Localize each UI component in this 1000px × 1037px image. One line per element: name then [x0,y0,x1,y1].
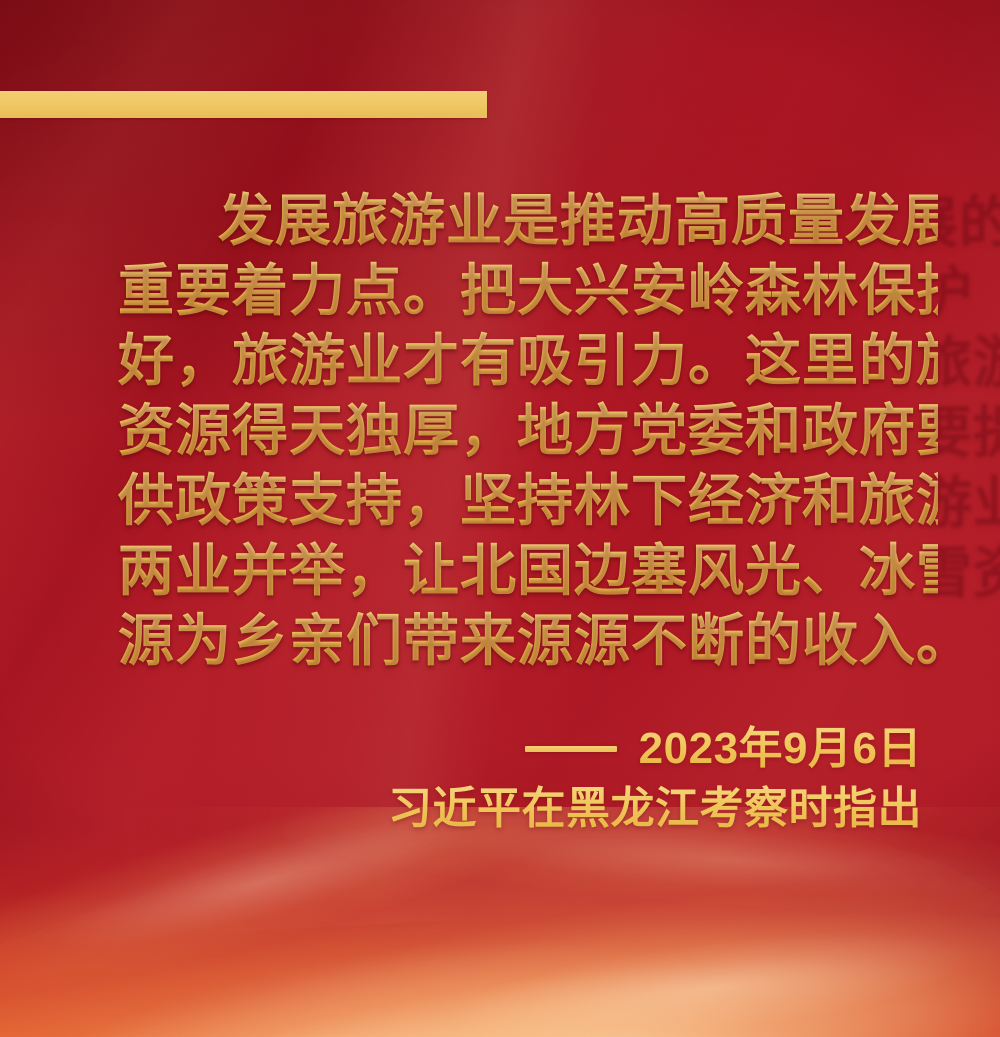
quote-poster: 发展旅游业是推动高质量发展的 重要着力点。把大兴安岭森林保护 好，旅游业才有吸引… [0,0,1000,1037]
quote-line: 资源得天独厚，地方党委和政府要提 [118,396,938,466]
quote-line: 好，旅游业才有吸引力。这里的旅游 [118,326,938,396]
attribution-date-row: 2023年9月6日 [388,722,922,776]
attribution-date: 2023年9月6日 [639,722,922,776]
quote-line: 供政策支持，坚持林下经济和旅游业 [118,466,938,536]
gold-rule [0,91,487,118]
quote-text-block: 发展旅游业是推动高质量发展的 重要着力点。把大兴安岭森林保护 好，旅游业才有吸引… [118,186,938,676]
light-ribbons [0,807,1000,1037]
em-dash-icon [525,746,617,752]
quote-line: 发展旅游业是推动高质量发展的 [118,186,938,256]
quote-line: 两业并举，让北国边塞风光、冰雪资 [118,536,938,606]
attribution-block: 2023年9月6日 习近平在黑龙江考察时指出 [388,722,922,836]
attribution-source: 习近平在黑龙江考察时指出 [388,782,922,836]
quote-line: 重要着力点。把大兴安岭森林保护 [118,256,938,326]
quote-line: 源为乡亲们带来源源不断的收入。 [118,606,938,676]
